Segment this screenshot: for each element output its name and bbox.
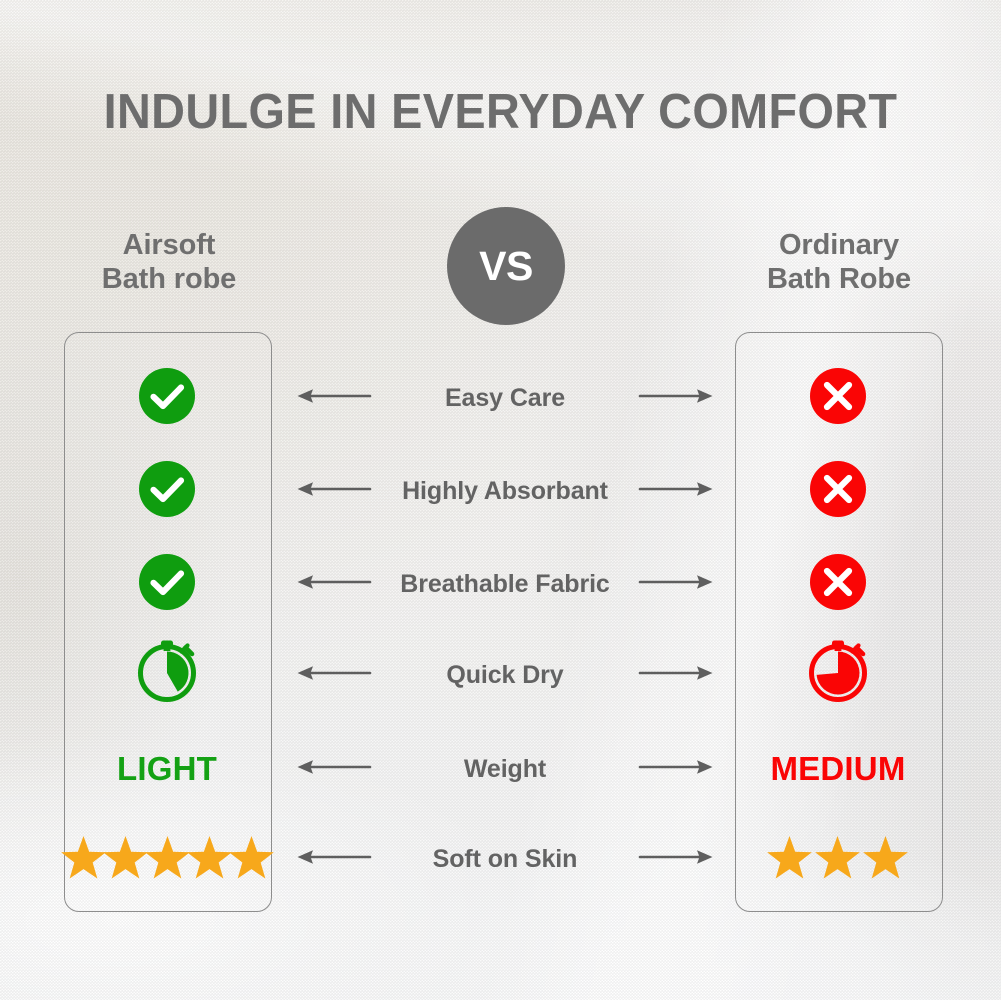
row-feature: Easy Care (296, 352, 714, 444)
column-header-left-line1: Airsoft (19, 228, 319, 262)
comparison-row: Highly Absorbant (0, 445, 1001, 537)
weight-value: LIGHT (117, 750, 217, 788)
comparison-row: Quick Dry (0, 629, 1001, 721)
arrow-right-icon (638, 386, 714, 411)
arrow-left-icon (296, 479, 372, 504)
comparison-row: Breathable Fabric (0, 538, 1001, 630)
row-value-right (735, 352, 941, 444)
row-value-left (64, 445, 270, 537)
row-value-left: LIGHT (64, 723, 270, 815)
row-value-left (64, 538, 270, 630)
column-header-right-line1: Ordinary (689, 228, 989, 262)
row-feature: Breathable Fabric (296, 538, 714, 630)
arrow-right-icon (638, 757, 714, 782)
check-icon (138, 460, 196, 523)
page-title: INDULGE IN EVERYDAY COMFORT (23, 88, 979, 137)
feature-label: Breathable Fabric (372, 570, 638, 599)
row-value-left (64, 629, 270, 721)
feature-label: Quick Dry (372, 661, 638, 690)
row-value-right (735, 813, 941, 905)
row-value-right: MEDIUM (735, 723, 941, 815)
cross-icon (809, 460, 867, 523)
arrow-right-icon (638, 572, 714, 597)
comparison-row: LIGHTWeightMEDIUM (0, 723, 1001, 815)
arrow-right-icon (638, 847, 714, 872)
arrow-left-icon (296, 572, 372, 597)
comparison-row: Easy Care (0, 352, 1001, 444)
row-feature: Quick Dry (296, 629, 714, 721)
arrow-left-icon (296, 847, 372, 872)
cross-icon (809, 367, 867, 430)
row-value-right (735, 445, 941, 537)
row-value-left (64, 352, 270, 444)
column-header-left-line2: Bath robe (19, 262, 319, 296)
column-header-left: Airsoft Bath robe (19, 228, 319, 296)
feature-label: Soft on Skin (372, 845, 638, 874)
arrow-right-icon (638, 663, 714, 688)
arrow-left-icon (296, 663, 372, 688)
comparison-row: Soft on Skin (0, 813, 1001, 905)
cross-icon (809, 553, 867, 616)
column-header-right: Ordinary Bath Robe (689, 228, 989, 296)
star-rating (60, 836, 275, 883)
row-feature: Highly Absorbant (296, 445, 714, 537)
row-value-right (735, 538, 941, 630)
feature-label: Highly Absorbant (372, 477, 638, 506)
row-feature: Soft on Skin (296, 813, 714, 905)
arrow-left-icon (296, 386, 372, 411)
star-rating (766, 836, 910, 883)
arrow-right-icon (638, 479, 714, 504)
check-icon (138, 367, 196, 430)
row-value-left (64, 813, 270, 905)
feature-label: Easy Care (372, 384, 638, 413)
row-feature: Weight (296, 723, 714, 815)
check-icon (138, 553, 196, 616)
feature-label: Weight (372, 755, 638, 784)
weight-value: MEDIUM (770, 750, 905, 788)
stopwatch-icon (806, 638, 870, 713)
row-value-right (735, 629, 941, 721)
comparison-infographic: INDULGE IN EVERYDAY COMFORT Airsoft Bath… (0, 0, 1001, 1000)
arrow-left-icon (296, 757, 372, 782)
column-header-right-line2: Bath Robe (689, 262, 989, 296)
vs-badge: VS (447, 207, 565, 325)
stopwatch-icon (135, 638, 199, 713)
